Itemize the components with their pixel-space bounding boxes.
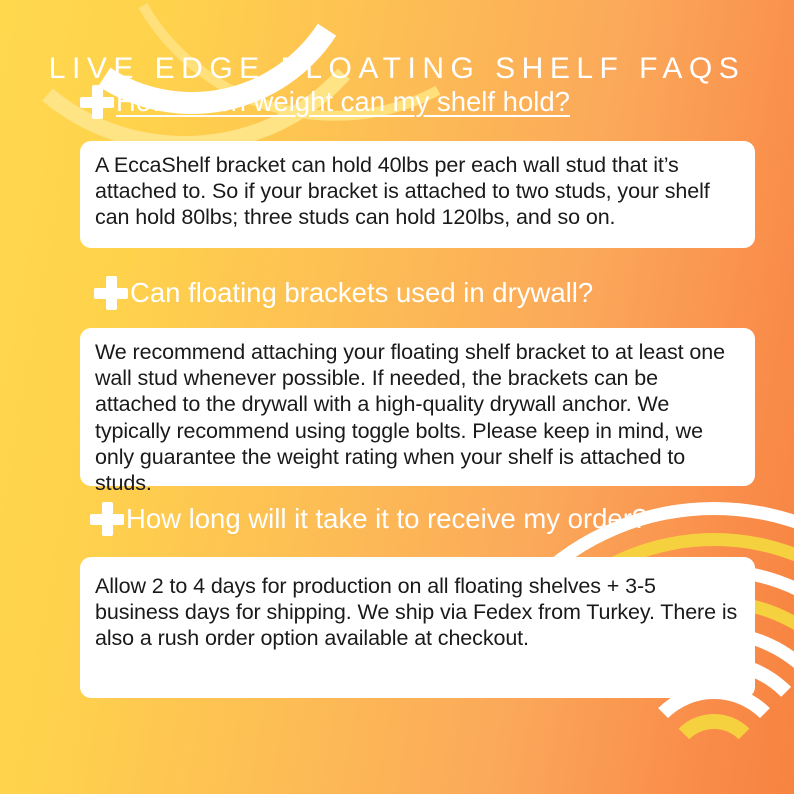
- faq-answer-box-3: Allow 2 to 4 days for production on all …: [80, 557, 755, 698]
- faq-question-2[interactable]: Can floating brackets used in drywall?: [94, 276, 593, 310]
- faq-question-3-label: How long will it take it to receive my o…: [126, 505, 647, 534]
- plus-icon[interactable]: [94, 276, 128, 310]
- faq-answer-2-text: We recommend attaching your floating she…: [95, 339, 741, 496]
- faq-question-1-label: How much weight can my shelf hold?: [116, 88, 570, 117]
- faq-question-3[interactable]: How long will it take it to receive my o…: [90, 502, 647, 536]
- ring-2: [635, 685, 793, 794]
- page-title: LIVE EDGE FLOATING SHELF FAQS: [0, 52, 794, 86]
- faq-answer-3-text: Allow 2 to 4 days for production on all …: [95, 573, 741, 652]
- faq-answer-box-2: We recommend attaching your floating she…: [80, 328, 755, 486]
- faq-question-2-label: Can floating brackets used in drywall?: [130, 279, 593, 308]
- plus-icon[interactable]: [90, 502, 124, 536]
- faq-answer-box-1: A EccaShelf bracket can hold 40lbs per e…: [80, 141, 755, 248]
- faq-answer-1-text: A EccaShelf bracket can hold 40lbs per e…: [95, 152, 741, 231]
- faq-poster: LIVE EDGE FLOATING SHELF FAQS How much w…: [0, 0, 794, 794]
- ring-1: [664, 714, 764, 794]
- faq-question-1[interactable]: How much weight can my shelf hold?: [80, 85, 570, 119]
- plus-icon[interactable]: [80, 85, 114, 119]
